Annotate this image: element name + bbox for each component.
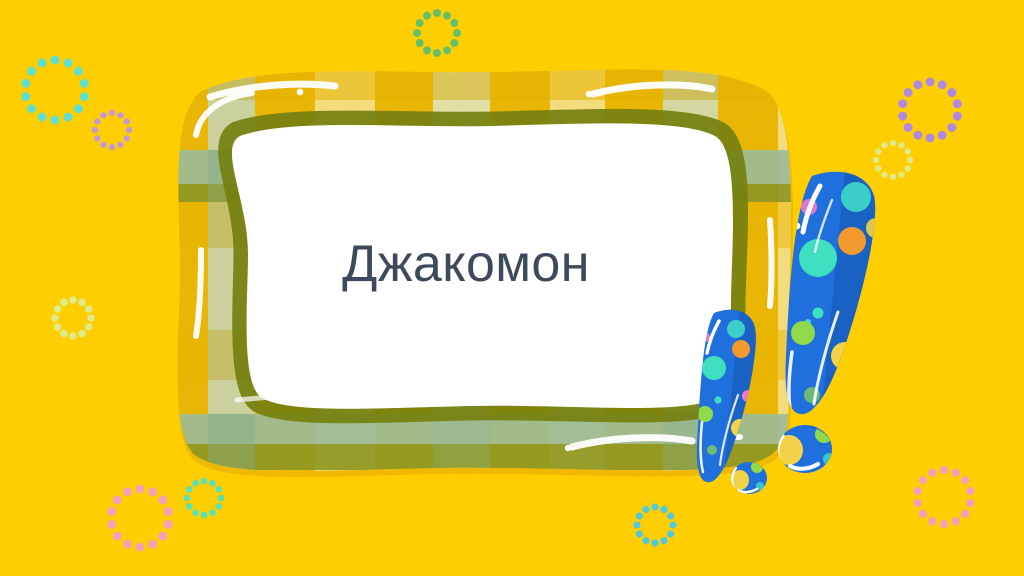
exclamation-large [770, 160, 900, 480]
exclamation-small [688, 300, 778, 500]
page-title: Джакомон [342, 235, 590, 295]
title-container: Джакомон [232, 130, 700, 400]
slide-canvas: Джакомон [0, 0, 1024, 576]
